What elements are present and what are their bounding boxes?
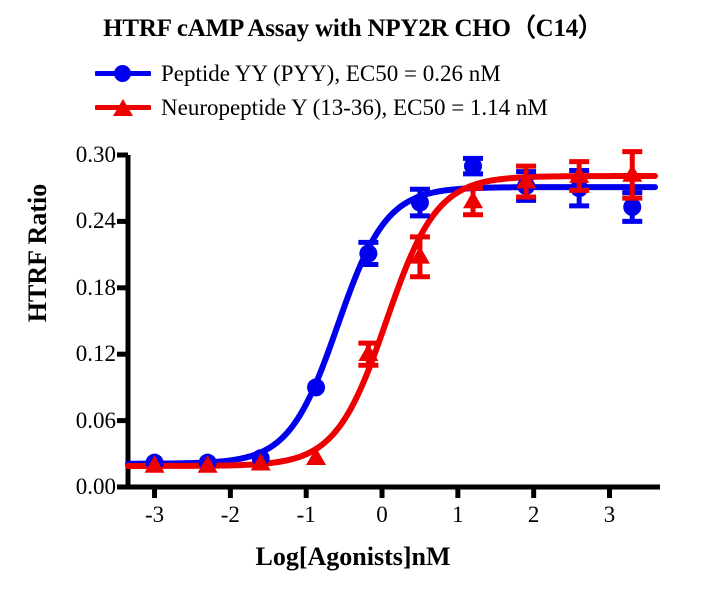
data-series-1 <box>146 157 643 472</box>
curve-series-1 <box>128 187 655 464</box>
data-point <box>411 194 429 212</box>
data-point <box>464 157 482 175</box>
data-series-2 <box>145 152 643 473</box>
chart-figure: HTRF cAMP Assay with NPY2R CHO（C14） Pept… <box>0 0 706 589</box>
data-point <box>463 191 483 208</box>
data-point <box>623 198 641 216</box>
data-point <box>307 378 325 396</box>
data-point <box>359 244 377 262</box>
curve-series-2 <box>128 176 655 466</box>
plot-area <box>0 0 706 589</box>
